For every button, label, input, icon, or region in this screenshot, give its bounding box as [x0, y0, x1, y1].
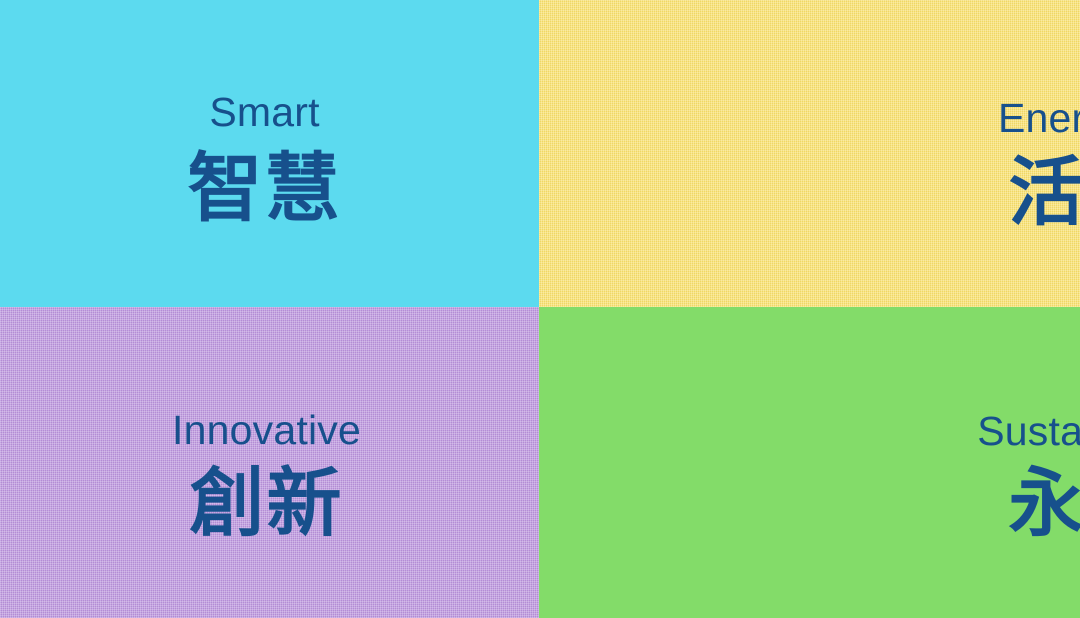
panel-content-energetic: Energetic 活力: [815, 0, 1080, 230]
panel-content-smart: Smart 智慧: [0, 0, 534, 226]
value-label-cjk-innovative: 創新: [189, 466, 343, 541]
value-panel-innovative[interactable]: Innovative 創新: [0, 307, 539, 618]
value-panel-sustainable[interactable]: Sustainable 永續: [539, 307, 1080, 618]
value-label-en-sustainable: Sustainable: [977, 411, 1080, 452]
value-label-cjk-smart: 智慧: [187, 151, 341, 226]
value-label-en-smart: Smart: [209, 92, 319, 133]
value-panel-smart[interactable]: Smart 智慧: [0, 0, 539, 307]
value-label-cjk-sustainable: 永續: [1008, 466, 1080, 541]
value-label-en-innovative: Innovative: [172, 410, 361, 451]
value-grid: Smart 智慧 Energetic 活力 Innovative 創新 Sust…: [0, 0, 1080, 618]
panel-content-innovative: Innovative 創新: [0, 307, 536, 541]
value-label-cjk-energetic: 活力: [1008, 155, 1080, 230]
value-label-en-energetic: Energetic: [998, 98, 1080, 139]
panel-content-sustainable: Sustainable 永續: [815, 307, 1080, 541]
brand-values-poster: Smart 智慧 Energetic 活力 Innovative 創新 Sust…: [0, 0, 1080, 618]
value-panel-energetic[interactable]: Energetic 活力: [539, 0, 1080, 307]
